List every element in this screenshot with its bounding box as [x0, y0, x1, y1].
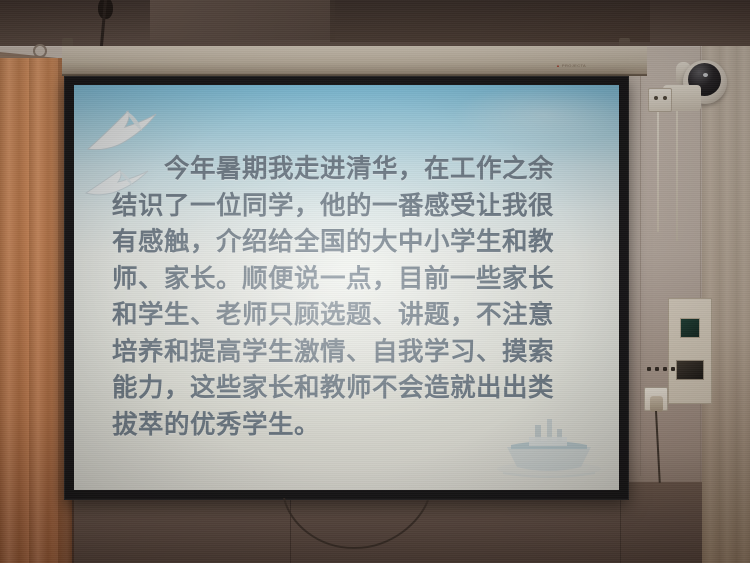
- wall-vertical-seam-1: [640, 46, 641, 476]
- projection-screen-surface[interactable]: 今年暑期我走进清华，在工作之余 结识了一位同学，他的一番感受让我很 有感触，介绍…: [74, 85, 619, 490]
- projection-screen-housing[interactable]: [62, 46, 647, 76]
- camera-lens-glint: [703, 73, 708, 77]
- slide-line: 结识了一位同学，他的一番感受让我很: [112, 188, 592, 225]
- projection-screen-frame: 今年暑期我走进清华，在工作之余 结识了一位同学，他的一番感受让我很 有感触，介绍…: [64, 76, 629, 500]
- wall-vertical-seam-2: [700, 46, 701, 486]
- ceiling-panel-right: [330, 0, 650, 42]
- indicator-dot: [663, 367, 667, 371]
- slide-line: 有感触，介绍给全国的大中小学生和教: [112, 224, 592, 261]
- classroom-photo: ▲ PROJECTA 今年: [0, 0, 750, 563]
- indicator-dot: [647, 367, 651, 371]
- slide-line: 今年暑期我走进清华，在工作之余: [112, 151, 592, 188]
- hanging-cable-loop: [282, 498, 430, 556]
- slide-line: 能力，这些家长和教师不会造就出出类: [112, 370, 592, 407]
- seagull-decorations: [82, 97, 212, 207]
- control-panel-indicator-dots: [647, 366, 677, 371]
- housing-brand-label: ▲ PROJECTA: [556, 63, 586, 68]
- projector-glare: [74, 85, 619, 490]
- control-panel-module: [676, 360, 704, 380]
- slide-line: 师、家长。顺便说一点，目前一些家长: [112, 261, 592, 298]
- wall-control-panel[interactable]: [668, 298, 712, 404]
- ceiling-panel-left: [150, 0, 335, 40]
- wall-cable-a: [657, 112, 659, 232]
- slide-line: 拔萃的优秀学生。: [112, 407, 592, 444]
- screen-vignette: [74, 85, 619, 490]
- wall-cable-b: [676, 111, 678, 241]
- ship-silhouette-icon: [489, 403, 609, 483]
- slide-text-body: 今年暑期我走进清华，在工作之余 结识了一位同学，他的一番感受让我很 有感触，介绍…: [112, 151, 592, 443]
- power-plug[interactable]: [650, 396, 663, 412]
- indicator-dot: [671, 367, 675, 371]
- control-panel-display: [680, 318, 700, 338]
- indicator-dot: [655, 367, 659, 371]
- slide-line: 和学生、老师只顾选题、讲题，不注意: [112, 297, 592, 334]
- slide-line: 培养和提高学生激情、自我学习、摸索: [112, 334, 592, 371]
- power-outlet-upper-icon[interactable]: [648, 88, 672, 112]
